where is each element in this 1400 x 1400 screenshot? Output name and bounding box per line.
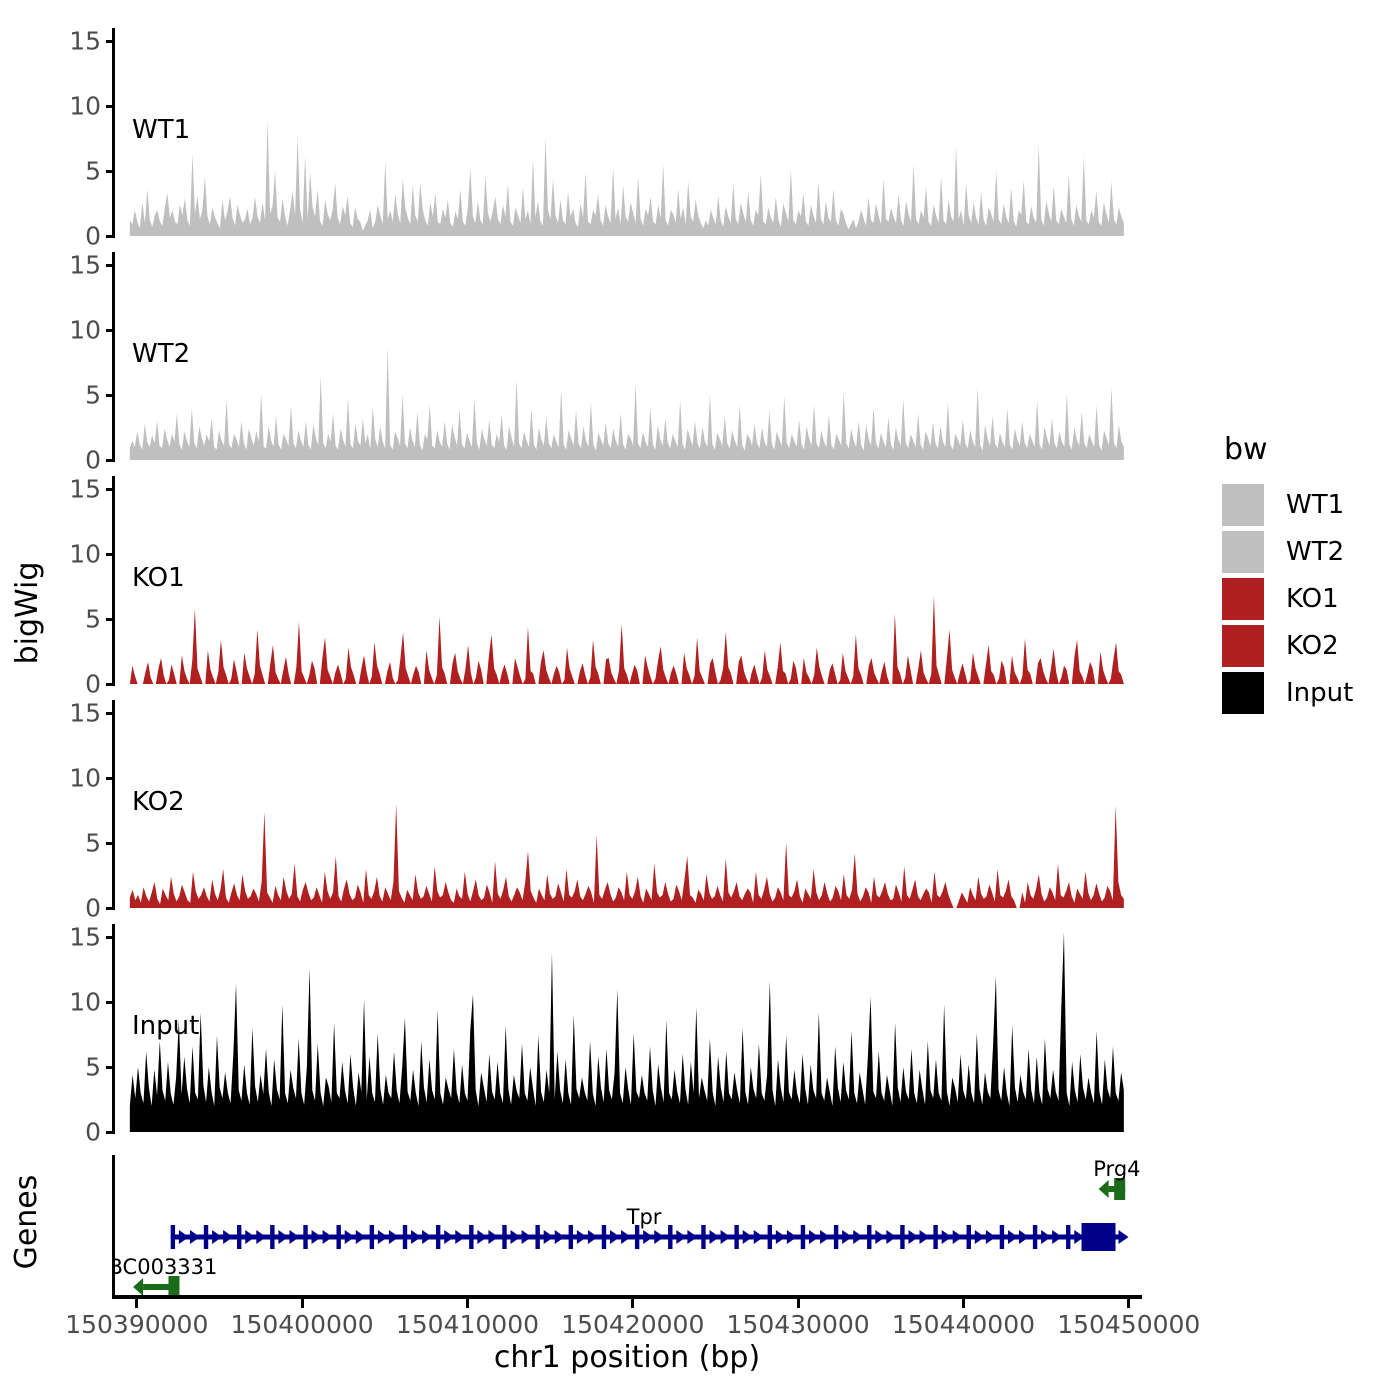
x-axis-tick <box>962 1299 965 1308</box>
legend-swatch-ko2 <box>1222 625 1264 667</box>
y-axis-tick-label: 10 <box>45 316 101 345</box>
y-axis-tick <box>106 1066 115 1069</box>
x-axis-tick-label: 150430000 <box>727 1310 870 1339</box>
y-axis-tick-label: 0 <box>45 222 101 251</box>
legend-label-input: Input <box>1286 678 1353 708</box>
panel-plot-area <box>115 28 1142 236</box>
x-axis-tick <box>466 1299 469 1308</box>
gene-label-prg4: Prg4 <box>1093 1157 1140 1181</box>
y-axis-tick <box>106 329 115 332</box>
x-axis-tick-label: 150400000 <box>231 1310 374 1339</box>
track-label-wt2: WT2 <box>132 339 190 369</box>
gene-label-tpr: Tpr <box>626 1205 662 1229</box>
y-axis-tick <box>106 40 115 43</box>
y-axis-tick <box>106 488 115 491</box>
gene-prg4[interactable]: Prg4 <box>1093 1157 1140 1200</box>
y-axis-tick-label: 10 <box>45 540 101 569</box>
y-axis-tick <box>106 712 115 715</box>
y-axis-tick <box>106 842 115 845</box>
legend-swatch-ko1 <box>1222 578 1264 620</box>
x-axis-tick <box>301 1299 304 1308</box>
y-axis-tick <box>106 618 115 621</box>
legend-label-ko1: KO1 <box>1286 584 1339 614</box>
legend-items: WT1WT2KO1KO2Input <box>1222 481 1397 716</box>
y-axis-tick <box>106 683 115 686</box>
legend-swatch-input <box>1222 672 1264 714</box>
signal-area-wt1 <box>115 28 1142 236</box>
y-axis-tick <box>106 553 115 556</box>
x-axis-title: chr1 position (bp) <box>112 1340 1142 1375</box>
bigwig-panel-wt2: 051015WT2 <box>112 252 1142 460</box>
gene-bc003331[interactable]: BC003331 <box>115 1255 217 1295</box>
y-axis-tick <box>106 459 115 462</box>
legend-label-wt2: WT2 <box>1286 537 1344 567</box>
x-axis-tick-label: 150440000 <box>892 1310 1035 1339</box>
plot-root: bigWig Genes 051015WT1051015WT2051015KO1… <box>0 0 1400 1400</box>
y-axis-tick <box>106 170 115 173</box>
y-axis-tick-label: 15 <box>45 27 101 56</box>
y-axis-tick <box>106 235 115 238</box>
y-axis-facet-title-genes: Genes <box>9 1157 45 1287</box>
x-axis-tick-label: 150410000 <box>396 1310 539 1339</box>
x-axis-line <box>112 1295 1142 1299</box>
x-axis-tick <box>631 1299 634 1308</box>
genes-track-svg: TprPrg4BC003331 <box>115 1155 1145 1295</box>
x-axis-tick <box>797 1299 800 1308</box>
y-axis-tick-label: 5 <box>45 829 101 858</box>
x-axis-tick-label: 150390000 <box>65 1310 208 1339</box>
y-axis-tick <box>106 936 115 939</box>
y-axis-tick-label: 15 <box>45 475 101 504</box>
y-axis-tick-label: 15 <box>45 699 101 728</box>
bigwig-panel-wt1: 051015WT1 <box>112 28 1142 236</box>
y-axis-tick-label: 5 <box>45 605 101 634</box>
legend-title: bw <box>1224 432 1397 467</box>
y-axis-tick <box>106 777 115 780</box>
legend: bw WT1WT2KO1KO2Input <box>1222 432 1397 716</box>
panel-plot-area <box>115 700 1142 908</box>
legend-swatch-wt2 <box>1222 531 1264 573</box>
y-axis-facet-title-bigwig: bigWig <box>10 523 46 703</box>
track-label-ko2: KO2 <box>132 787 185 817</box>
y-axis-tick-label: 15 <box>45 251 101 280</box>
y-axis-tick <box>106 394 115 397</box>
y-axis-tick <box>106 264 115 267</box>
bigwig-panel-input: 051015Input <box>112 924 1142 1132</box>
signal-area-wt2 <box>115 252 1142 460</box>
y-axis-tick-label: 10 <box>45 988 101 1017</box>
legend-label-ko2: KO2 <box>1286 631 1339 661</box>
legend-label-wt1: WT1 <box>1286 490 1344 520</box>
y-axis-tick-label: 15 <box>45 923 101 952</box>
gene-label-bc003331: BC003331 <box>115 1255 217 1279</box>
x-axis-tick <box>1127 1299 1130 1308</box>
x-axis-tick-label: 150420000 <box>561 1310 704 1339</box>
y-axis-tick-label: 5 <box>45 1053 101 1082</box>
y-axis-tick-label: 10 <box>45 764 101 793</box>
track-label-wt1: WT1 <box>132 115 190 145</box>
y-axis-tick-label: 0 <box>45 446 101 475</box>
y-axis-tick <box>106 1001 115 1004</box>
y-axis-tick <box>106 105 115 108</box>
legend-item-wt1[interactable]: WT1 <box>1222 481 1397 528</box>
y-axis-tick-label: 0 <box>45 1118 101 1147</box>
panel-plot-area <box>115 924 1142 1132</box>
track-label-input: Input <box>132 1011 199 1041</box>
legend-item-ko2[interactable]: KO2 <box>1222 622 1397 669</box>
x-axis-tick <box>135 1299 138 1308</box>
bigwig-panel-ko2: 051015KO2 <box>112 700 1142 908</box>
signal-area-ko2 <box>115 700 1142 908</box>
y-axis-tick-label: 5 <box>45 157 101 186</box>
bigwig-panel-ko1: 051015KO1 <box>112 476 1142 684</box>
signal-area-input <box>115 924 1142 1132</box>
legend-item-input[interactable]: Input <box>1222 669 1397 716</box>
track-label-ko1: KO1 <box>132 563 185 593</box>
x-axis-tick-label: 150450000 <box>1057 1310 1200 1339</box>
y-axis-tick <box>106 907 115 910</box>
panel-plot-area <box>115 476 1142 684</box>
y-axis-tick <box>106 1131 115 1134</box>
panel-plot-area <box>115 252 1142 460</box>
y-axis-tick-label: 5 <box>45 381 101 410</box>
legend-item-wt2[interactable]: WT2 <box>1222 528 1397 575</box>
y-axis-tick-label: 10 <box>45 92 101 121</box>
signal-area-ko1 <box>115 476 1142 684</box>
legend-item-ko1[interactable]: KO1 <box>1222 575 1397 622</box>
legend-swatch-wt1 <box>1222 484 1264 526</box>
genes-panel: TprPrg4BC003331 <box>112 1155 1142 1295</box>
y-axis-tick-label: 0 <box>45 670 101 699</box>
y-axis-tick-label: 0 <box>45 894 101 923</box>
gene-tpr[interactable]: Tpr <box>171 1205 1129 1251</box>
